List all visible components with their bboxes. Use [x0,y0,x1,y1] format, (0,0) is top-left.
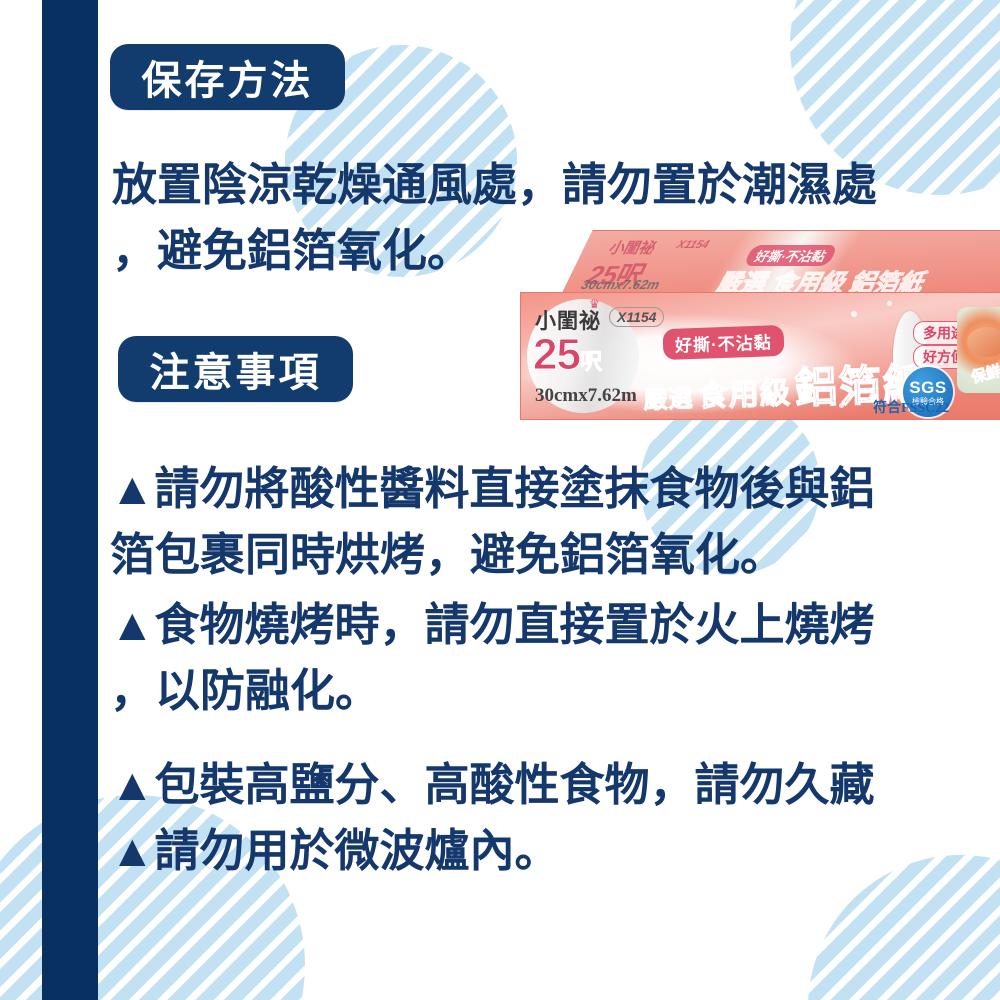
bubble-decoration [887,301,892,306]
content-column: 保存方法 放置陰涼乾燥通風處，請勿置於潮濕處 ，避免鋁箔氧化。 注意事項 ▲請勿… [110,0,1000,1000]
product-quantity: 25呎 [533,333,601,384]
bubble-decoration [839,403,844,408]
bubble-decoration [851,311,857,317]
fssc-certification-text: 符合FSSC22 [873,397,949,417]
caution-bullet-item: ▲請勿將酸性醬料直接塗抹食物後與鋁 箔包裹同時烘烤，避免鋁箔氧化。 [110,456,1000,588]
product-package-image: 小閨祕 X1154 25呎 30cmx7.62m 好撕·不沾黏 嚴選 食用級 鋁… [520,230,1000,420]
food-photo-content [967,327,1000,357]
caution-bullet-item: ▲包裝高鹽分、高酸性食物，請勿久藏 [110,752,1000,818]
product-quantity-number: 25 [533,330,580,379]
product-dimensions: 30cmx7.62m [535,385,637,407]
caution-bullet-item: ▲食物燒烤時，請勿直接置於火上燒烤 ，以防融化。 [110,592,1000,724]
product-quantity-unit: 呎 [580,349,601,374]
box-top-sku: X1154 [674,239,711,251]
product-box-top-face: 小閨祕 X1154 25呎 30cmx7.62m 好撕·不沾黏 嚴選 食用級 鋁… [560,230,1000,297]
product-title-prefix: 嚴選 [643,385,694,414]
left-accent-bar [42,0,98,1000]
bubble-decoration [869,393,877,401]
product-title-grade: 食用級 [697,377,791,413]
infographic-canvas: 保存方法 放置陰涼乾燥通風處，請勿置於潮濕處 ，避免鋁箔氧化。 注意事項 ▲請勿… [0,0,1000,1000]
caution-bullet-item: ▲請勿用於微波爐內。 [110,818,1000,884]
box-top-dimensions: 30cmx7.62m [578,277,663,292]
sgs-label: SGS [909,379,946,396]
section-badge-storage: 保存方法 [110,44,345,110]
section-badge-caution: 注意事項 [118,336,353,402]
product-sku-code: X1154 [609,307,664,327]
product-box-front-face: ♛ 小閨祕 X1154 25呎 30cmx7.62m 好撕·不沾黏 嚴選 食用級… [520,292,1000,420]
